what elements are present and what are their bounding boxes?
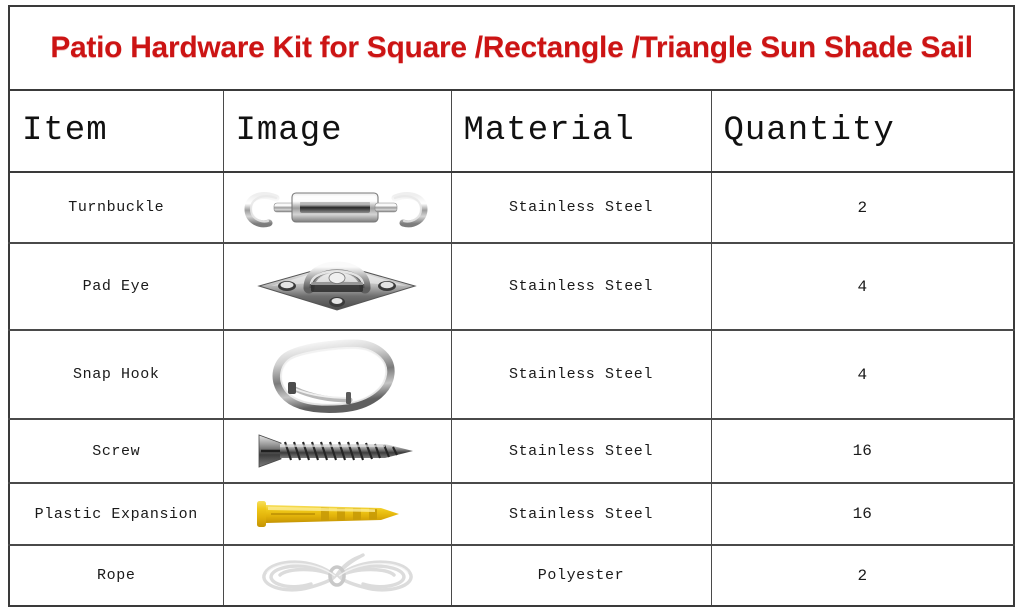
pad-eye-icon xyxy=(251,248,423,326)
item-cell: Screw xyxy=(9,419,223,483)
image-cell xyxy=(223,243,451,330)
column-header-image-label: Image xyxy=(224,112,451,150)
table-row: Pad Eye xyxy=(9,243,1014,330)
column-header-image: Image xyxy=(223,90,451,172)
image-cell xyxy=(223,483,451,545)
material-value: Polyester xyxy=(452,567,711,584)
item-name: Screw xyxy=(10,443,223,460)
table-row: Turnbuckle xyxy=(9,172,1014,243)
material-value: Stainless Steel xyxy=(452,443,711,460)
material-cell: Polyester xyxy=(451,545,711,606)
rope-icon xyxy=(251,549,423,603)
image-cell xyxy=(223,330,451,419)
turnbuckle-icon xyxy=(242,180,432,236)
column-header-item: Item xyxy=(9,90,223,172)
item-cell: Snap Hook xyxy=(9,330,223,419)
item-name: Rope xyxy=(10,567,223,584)
material-value: Stainless Steel xyxy=(452,199,711,216)
column-header-quantity-label: Quantity xyxy=(712,112,1014,150)
material-cell: Stainless Steel xyxy=(451,243,711,330)
table-row: Plastic Expansion xyxy=(9,483,1014,545)
column-header-material-label: Material xyxy=(452,112,711,150)
item-cell: Plastic Expansion xyxy=(9,483,223,545)
item-name: Snap Hook xyxy=(10,366,223,383)
table-row: Rope xyxy=(9,545,1014,606)
quantity-cell: 2 xyxy=(711,172,1014,243)
quantity-cell: 4 xyxy=(711,330,1014,419)
table-row: Snap Hook xyxy=(9,330,1014,419)
material-value: Stainless Steel xyxy=(452,366,711,383)
material-cell: Stainless Steel xyxy=(451,483,711,545)
image-cell xyxy=(223,172,451,243)
material-value: Stainless Steel xyxy=(452,278,711,295)
quantity-cell: 4 xyxy=(711,243,1014,330)
column-header-material: Material xyxy=(451,90,711,172)
quantity-value: 2 xyxy=(712,567,1014,585)
column-header-quantity: Quantity xyxy=(711,90,1014,172)
quantity-cell: 16 xyxy=(711,483,1014,545)
material-value: Stainless Steel xyxy=(452,506,711,523)
product-spec-page: Patio Hardware Kit for Square /Rectangle… xyxy=(0,0,1024,612)
column-header-item-label: Item xyxy=(10,112,223,150)
item-name: Turnbuckle xyxy=(10,199,223,216)
table-row: Screw xyxy=(9,419,1014,483)
hardware-kit-table: Patio Hardware Kit for Square /Rectangle… xyxy=(8,5,1015,607)
item-cell: Pad Eye xyxy=(9,243,223,330)
title-row: Patio Hardware Kit for Square /Rectangle… xyxy=(9,6,1014,90)
item-cell: Turnbuckle xyxy=(9,172,223,243)
screw-icon xyxy=(247,428,427,474)
material-cell: Stainless Steel xyxy=(451,330,711,419)
title-cell: Patio Hardware Kit for Square /Rectangle… xyxy=(9,6,1014,90)
quantity-value: 16 xyxy=(712,442,1014,460)
table-header-row: Item Image Material Quantity xyxy=(9,90,1014,172)
quantity-value: 4 xyxy=(712,366,1014,384)
quantity-value: 16 xyxy=(712,505,1014,523)
image-cell xyxy=(223,545,451,606)
material-cell: Stainless Steel xyxy=(451,172,711,243)
snap-hook-icon xyxy=(262,334,412,416)
material-cell: Stainless Steel xyxy=(451,419,711,483)
item-name: Plastic Expansion xyxy=(10,506,223,523)
plastic-expansion-anchor-icon xyxy=(249,492,425,536)
quantity-value: 2 xyxy=(712,199,1014,217)
image-cell xyxy=(223,419,451,483)
quantity-cell: 16 xyxy=(711,419,1014,483)
page-title: Patio Hardware Kit for Square /Rectangle… xyxy=(50,31,972,64)
item-cell: Rope xyxy=(9,545,223,606)
quantity-value: 4 xyxy=(712,278,1014,296)
quantity-cell: 2 xyxy=(711,545,1014,606)
item-name: Pad Eye xyxy=(10,278,223,295)
